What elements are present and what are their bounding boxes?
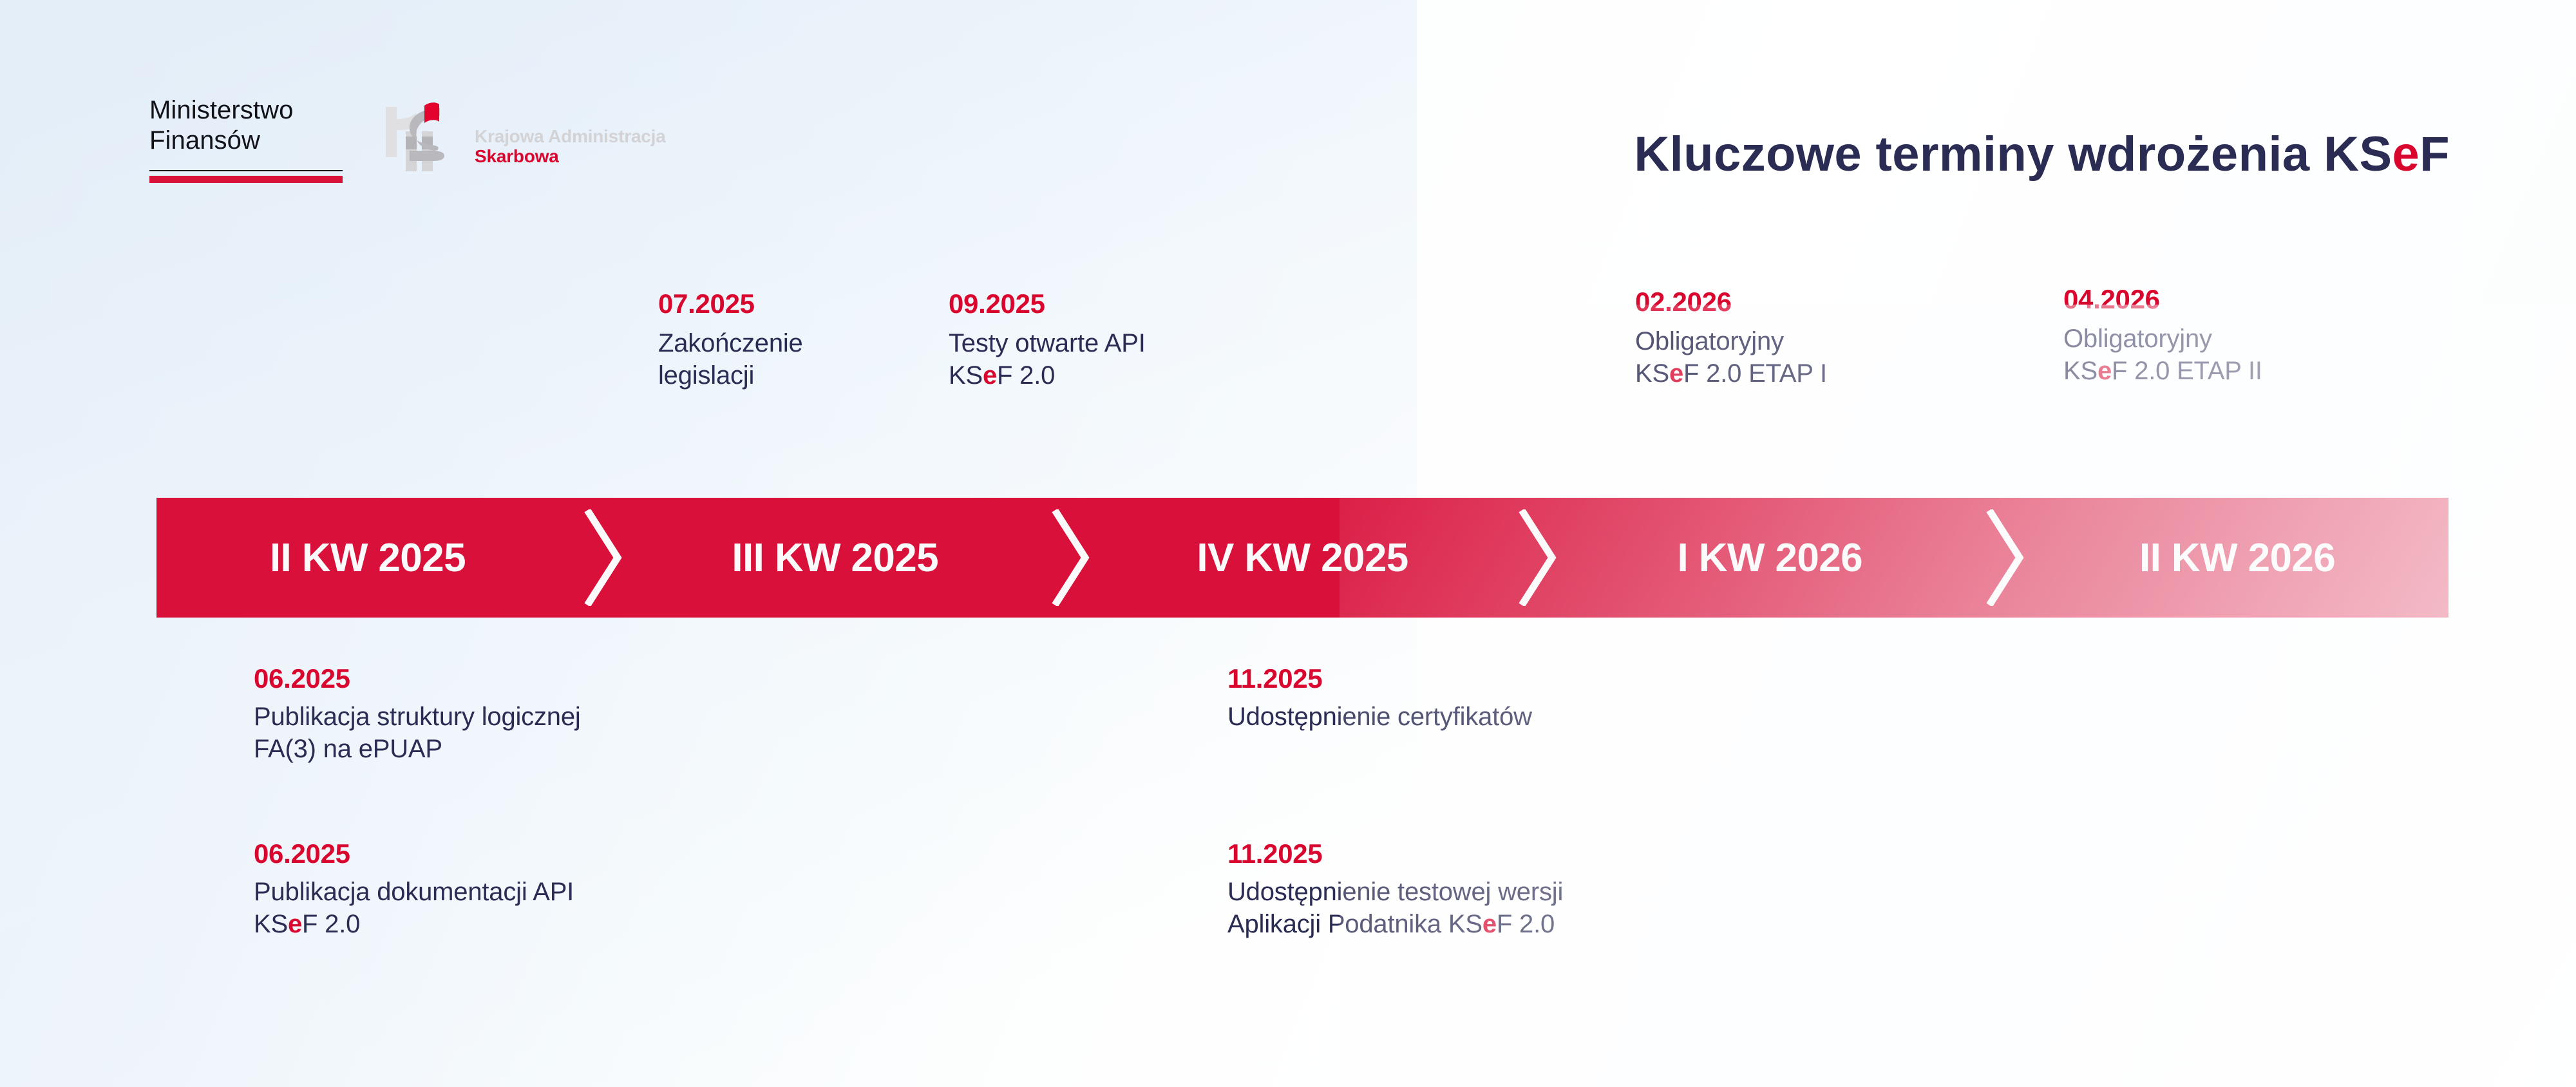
- ministry-logo-line1: Ministerstwo: [149, 95, 343, 126]
- milestone-desc-highlight: e: [1669, 359, 1683, 388]
- ministerstwo-finansow-logo: Ministerstwo Finansów: [149, 95, 343, 183]
- chevron-right-icon: [1513, 509, 1558, 606]
- milestone-above-3: 02.2026 Obligatoryjny KSeF 2.0 ETAP I: [1635, 287, 2009, 390]
- page-title-highlight: e: [2392, 127, 2420, 182]
- milestone-date: 11.2025: [1227, 663, 1871, 694]
- milestone-description: Obligatoryjny KSeF 2.0 ETAP I: [1635, 325, 2009, 390]
- milestone-description: Udostępnienie testowej wersji Aplikacji …: [1227, 876, 1936, 940]
- kas-logo-line1: Krajowa Administracja: [475, 126, 666, 146]
- chevron-right-icon: [1046, 509, 1092, 606]
- milestone-description: Obligatoryjny KSeF 2.0 ETAP II: [2063, 323, 2456, 387]
- milestone-date: 04.2026: [2063, 284, 2456, 315]
- milestone-desc-highlight: e: [983, 361, 997, 390]
- milestone-date: 06.2025: [254, 838, 898, 869]
- milestone-description: Udostępnienie certyfikatów: [1227, 701, 1871, 733]
- milestone-below-4: 11.2025 Udostępnienie testowej wersji Ap…: [1227, 838, 1936, 940]
- milestone-below-1: 06.2025 Publikacja struktury logicznej F…: [254, 663, 898, 765]
- timeline-segment-4[interactable]: I KW 2026: [1558, 535, 1981, 581]
- milestone-desc-pre: Udostępnienie certyfikatów: [1227, 703, 1532, 731]
- polish-flag-rule-icon: [149, 170, 343, 183]
- milestone-date: 02.2026: [1635, 287, 2009, 317]
- milestone-below-2: 06.2025 Publikacja dokumentacji API KSeF…: [254, 838, 898, 940]
- milestone-above-2: 09.2025 Testy otwarte API KSeF 2.0: [949, 288, 1309, 392]
- page-title: Kluczowe terminy wdrożenia KSeF: [1634, 128, 2450, 181]
- timeline-segment-3[interactable]: IV KW 2025: [1092, 535, 1514, 581]
- milestone-description: Publikacja dokumentacji API KSeF 2.0: [254, 876, 898, 940]
- krajowa-administracja-skarbowa-logo: Krajowa Administracja Skarbowa: [384, 98, 666, 176]
- chevron-right-icon: [1981, 509, 2026, 606]
- kas-monogram-icon: [384, 98, 463, 176]
- milestone-date: 11.2025: [1227, 838, 1936, 869]
- page-title-main: Kluczowe terminy wdrożenia KS: [1634, 127, 2392, 182]
- milestone-date: 07.2025: [658, 288, 935, 319]
- milestone-desc-highlight: e: [2098, 357, 2112, 385]
- milestone-desc-highlight: e: [288, 910, 302, 938]
- milestone-desc-highlight: e: [1482, 910, 1497, 938]
- milestone-desc-post: F 2.0 ETAP II: [2112, 357, 2262, 385]
- kas-logo-line2: Skarbowa: [475, 146, 666, 166]
- milestone-desc-post: F 2.0: [1497, 910, 1555, 938]
- milestone-desc-post: F 2.0 ETAP I: [1683, 359, 1827, 388]
- milestone-desc-post: F 2.0: [302, 910, 360, 938]
- milestone-date: 09.2025: [949, 288, 1309, 319]
- infographic-canvas: Ministerstwo Finansów: [0, 0, 2576, 1087]
- milestone-description: Publikacja struktury logicznej FA(3) na …: [254, 701, 898, 765]
- ministry-logo-line2: Finansów: [149, 126, 343, 156]
- milestone-above-4: 04.2026 Obligatoryjny KSeF 2.0 ETAP II: [2063, 284, 2456, 387]
- chevron-right-icon: [579, 509, 624, 606]
- timeline-segment-1[interactable]: II KW 2025: [156, 535, 579, 581]
- milestone-description: Testy otwarte API KSeF 2.0: [949, 327, 1309, 392]
- page-title-tail: F: [2420, 127, 2450, 182]
- timeline-segment-2[interactable]: III KW 2025: [624, 535, 1046, 581]
- milestone-date: 06.2025: [254, 663, 898, 694]
- milestone-above-1: 07.2025 Zakończenie legislacji: [658, 288, 935, 392]
- milestone-desc-pre: Publikacja struktury logicznej FA(3) na …: [254, 703, 581, 763]
- milestone-description: Zakończenie legislacji: [658, 327, 935, 392]
- milestone-desc-pre: Zakończenie legislacji: [658, 329, 803, 390]
- timeline-segment-5[interactable]: II KW 2026: [2026, 535, 2448, 581]
- quarters-timeline-bar: II KW 2025 III KW 2025 IV KW 2025 I KW 2…: [156, 498, 2448, 618]
- milestone-below-3: 11.2025 Udostępnienie certyfikatów: [1227, 663, 1871, 733]
- milestone-desc-post: F 2.0: [997, 361, 1055, 390]
